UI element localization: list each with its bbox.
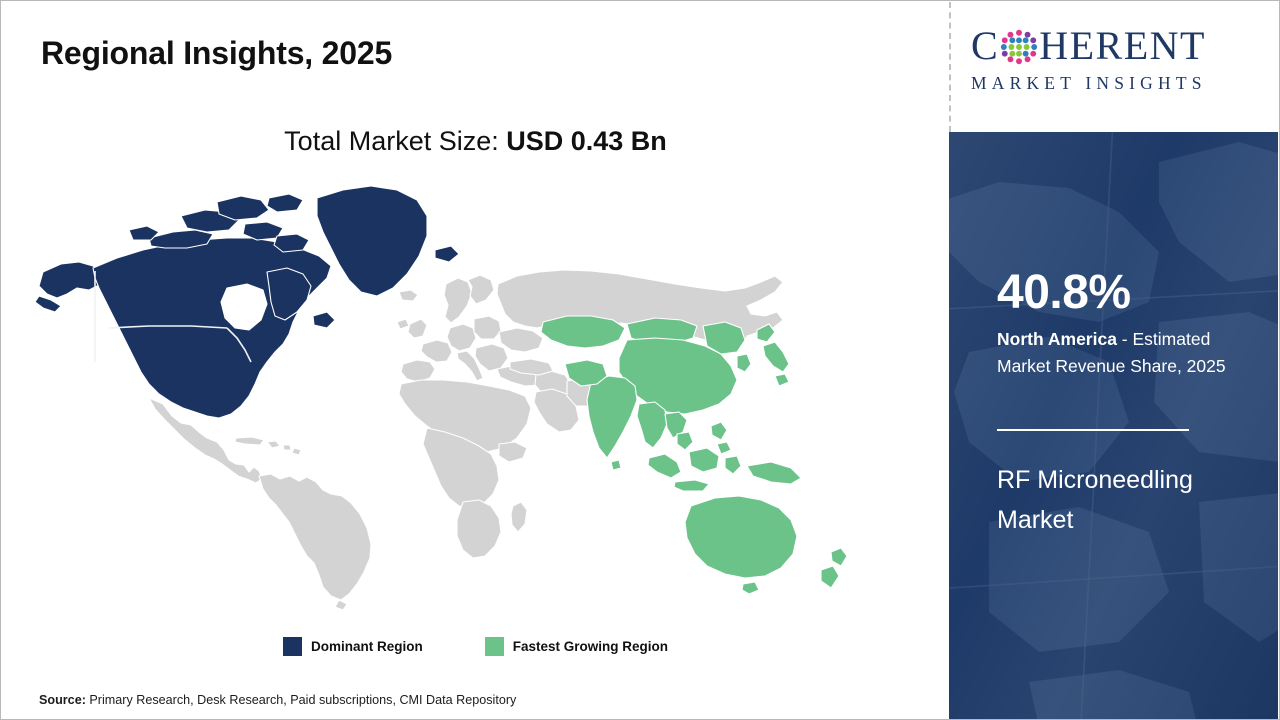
- stat-panel: 40.8% North America - Estimated Market R…: [949, 132, 1278, 720]
- brand-logo: C: [949, 2, 1278, 132]
- legend-item-dominant: Dominant Region: [283, 637, 423, 656]
- map-region-asia-pacific: [541, 316, 847, 594]
- dashed-divider: [949, 2, 951, 132]
- legend-item-fastest-growing: Fastest Growing Region: [485, 637, 668, 656]
- stat-divider-rule: [997, 429, 1189, 431]
- legend-swatch-fastest-growing: [485, 637, 504, 656]
- stat-description: North America - Estimated Market Revenue…: [997, 326, 1249, 380]
- market-name: RF Microneedling Market: [997, 460, 1227, 540]
- stat-percentage: 40.8%: [997, 269, 1131, 317]
- world-map: [31, 176, 911, 616]
- infographic-slide: Regional Insights, 2025 Total Market Siz…: [0, 0, 1280, 720]
- logo-word-post: HERENT: [1039, 26, 1206, 66]
- legend-label-dominant: Dominant Region: [311, 639, 423, 654]
- legend-label-fastest-growing: Fastest Growing Region: [513, 639, 668, 654]
- source-text: Primary Research, Desk Research, Paid su…: [86, 693, 516, 707]
- map-pane: Regional Insights, 2025 Total Market Siz…: [1, 1, 950, 719]
- logo-subtitle: MARKET INSIGHTS: [971, 73, 1261, 94]
- map-legend: Dominant Region Fastest Growing Region: [1, 637, 950, 656]
- total-market-size: Total Market Size: USD 0.43 Bn: [1, 126, 950, 157]
- page-title: Regional Insights, 2025: [41, 35, 392, 72]
- right-column: C: [949, 2, 1278, 720]
- map-region-north-america: [35, 186, 459, 418]
- legend-swatch-dominant: [283, 637, 302, 656]
- logo-dot-circle-icon: [1000, 28, 1038, 66]
- stat-region-name: North America: [997, 329, 1117, 349]
- logo-wordmark: C: [971, 24, 1261, 68]
- total-market-size-value: USD 0.43 Bn: [506, 126, 667, 156]
- source-label: Source:: [39, 693, 86, 707]
- total-market-size-label: Total Market Size:: [284, 126, 506, 156]
- source-note: Source: Primary Research, Desk Research,…: [39, 693, 516, 707]
- logo-word-pre: C: [971, 26, 999, 66]
